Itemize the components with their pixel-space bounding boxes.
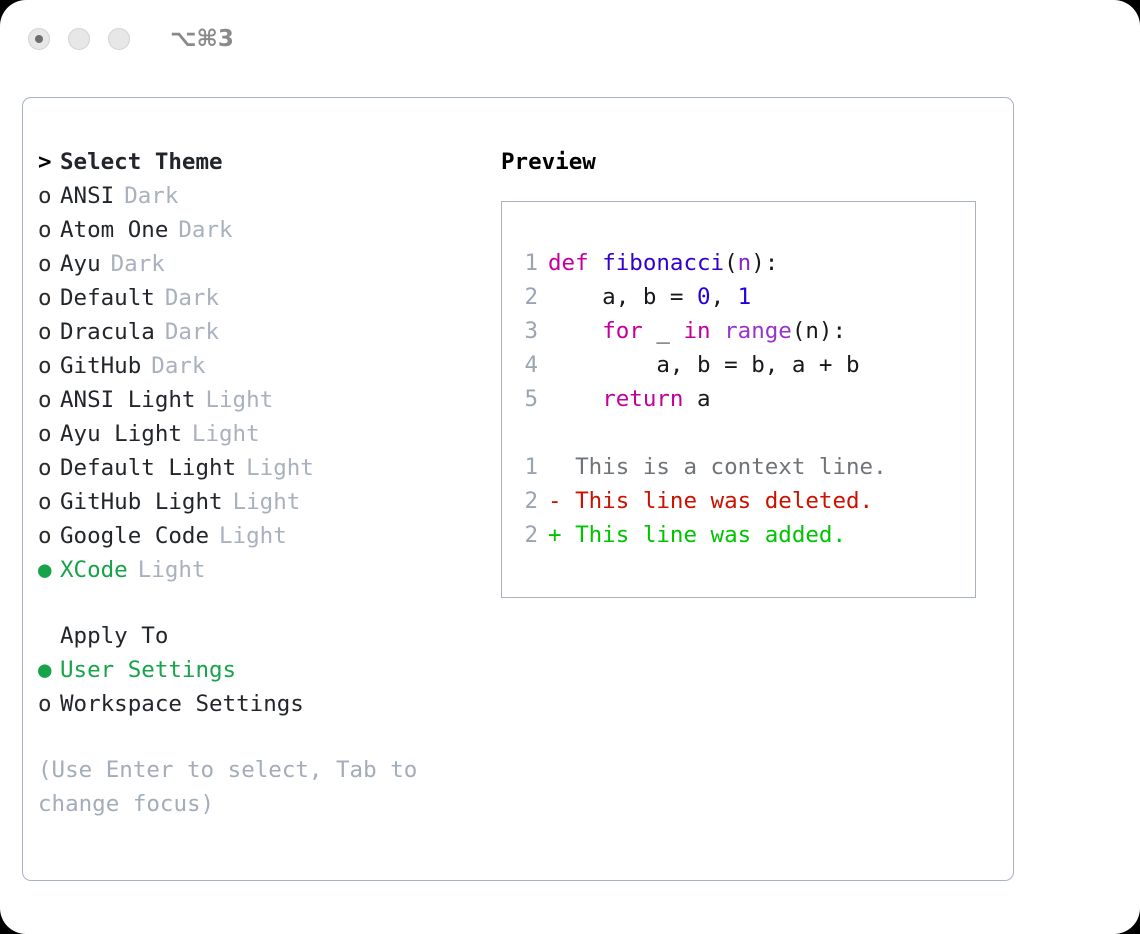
theme-option-github[interactable]: oGitHubDark [38, 349, 488, 383]
theme-option-ansi-light[interactable]: oANSI LightLight [38, 383, 488, 417]
theme-option-label: GitHub Light [60, 489, 223, 515]
apply-to-option-label: Workspace Settings [60, 691, 304, 717]
preview-box: 1def fibonacci(n):2 a, b = 0, 13 for _ i… [501, 201, 976, 598]
diff-sign-icon: + [548, 522, 562, 548]
theme-option-label: ANSI Light [60, 387, 195, 413]
code-token: ): [751, 250, 778, 276]
theme-variant-tag: Dark [151, 353, 205, 379]
diff-sign-icon: - [548, 488, 562, 514]
theme-option-ayu-light[interactable]: oAyu LightLight [38, 417, 488, 451]
code-line: 2 a, b = 0, 1 [516, 280, 975, 314]
code-line: 1def fibonacci(n): [516, 246, 975, 280]
theme-option-default[interactable]: oDefaultDark [38, 281, 488, 315]
theme-variant-tag: Light [219, 523, 287, 549]
radio-unselected-icon: o [38, 383, 60, 417]
code-line-number: 2 [516, 280, 538, 314]
keyboard-shortcut-label: ⌥⌘3 [170, 26, 234, 52]
code-line: 3 for _ in range(n): [516, 314, 975, 348]
diff-line-del: 2- This line was deleted. [516, 484, 975, 518]
code-token: n [738, 250, 752, 276]
apply-to-header: Apply To [38, 619, 488, 653]
theme-option-label: Dracula [60, 319, 155, 345]
theme-option-xcode[interactable]: ●XCodeLight [38, 553, 488, 587]
theme-variant-tag: Light [205, 387, 273, 413]
code-token: a, b = b, a + b [548, 352, 860, 378]
code-token: _ [656, 318, 683, 344]
theme-option-default-light[interactable]: oDefault LightLight [38, 451, 488, 485]
theme-option-ansi[interactable]: oANSIDark [38, 179, 488, 213]
code-line-number: 4 [516, 348, 538, 382]
window-titlebar: ⌥⌘3 [0, 0, 1140, 78]
theme-option-ayu[interactable]: oAyuDark [38, 247, 488, 281]
theme-variant-tag: Dark [111, 251, 165, 277]
theme-option-label: Google Code [60, 523, 209, 549]
code-token: a, b = [548, 284, 697, 310]
theme-variant-tag: Dark [124, 183, 178, 209]
apply-to-option-workspace-settings[interactable]: oWorkspace Settings [38, 687, 488, 721]
diff-sign-icon [548, 454, 562, 480]
prompt-caret-icon: > [38, 145, 60, 179]
select-theme-header-label: Select Theme [60, 149, 223, 175]
theme-option-list: oANSIDarkoAtom OneDarkoAyuDarkoDefaultDa… [38, 179, 488, 587]
apply-to-option-list: ●User SettingsoWorkspace Settings [38, 653, 488, 721]
theme-option-github-light[interactable]: oGitHub LightLight [38, 485, 488, 519]
diff-line-number: 2 [516, 484, 538, 518]
radio-unselected-icon: o [38, 417, 60, 451]
code-token: , [711, 284, 738, 310]
code-line-number: 3 [516, 314, 538, 348]
code-token: 1 [738, 284, 752, 310]
code-token: in [683, 318, 724, 344]
section-spacer [38, 587, 488, 619]
theme-option-label: ANSI [60, 183, 114, 209]
window-dot-active-inner [35, 35, 43, 43]
preview-column: Preview 1def fibonacci(n):2 a, b = 0, 13… [501, 145, 1001, 598]
code-token [548, 318, 602, 344]
code-token: 0 [697, 284, 711, 310]
radio-unselected-icon: o [38, 213, 60, 247]
code-line-number: 1 [516, 246, 538, 280]
theme-option-label: XCode [60, 557, 128, 583]
radio-selected-icon: ● [38, 653, 60, 687]
diff-line-text: This is a context line. [562, 454, 887, 480]
window-dot-2[interactable] [68, 28, 90, 50]
preview-title: Preview [501, 145, 1001, 179]
code-line: 5 return a [516, 382, 975, 416]
theme-option-atom-one[interactable]: oAtom OneDark [38, 213, 488, 247]
theme-option-dracula[interactable]: oDraculaDark [38, 315, 488, 349]
code-token: def [548, 250, 602, 276]
code-token: range [724, 318, 792, 344]
diff-line-ctx: 1 This is a context line. [516, 450, 975, 484]
code-line-number: 5 [516, 382, 538, 416]
theme-option-label: Atom One [60, 217, 168, 243]
select-theme-header: >Select Theme [38, 145, 488, 179]
theme-variant-tag: Light [233, 489, 301, 515]
diff-line-number: 1 [516, 450, 538, 484]
diff-sample: 1 This is a context line.2- This line wa… [516, 450, 975, 552]
theme-option-google-code[interactable]: oGoogle CodeLight [38, 519, 488, 553]
code-token: a [697, 386, 711, 412]
theme-variant-tag: Light [138, 557, 206, 583]
code-token: (n): [792, 318, 846, 344]
theme-list-column: >Select Theme oANSIDarkoAtom OneDarkoAyu… [38, 145, 488, 821]
radio-unselected-icon: o [38, 485, 60, 519]
theme-option-label: Ayu [60, 251, 101, 277]
theme-selection-panel: >Select Theme oANSIDarkoAtom OneDarkoAyu… [22, 97, 1014, 881]
theme-variant-tag: Dark [165, 285, 219, 311]
code-token: fibonacci [602, 250, 724, 276]
radio-unselected-icon: o [38, 687, 60, 721]
code-token: for [602, 318, 656, 344]
diff-line-text: This line was added. [562, 522, 846, 548]
code-token: return [602, 386, 697, 412]
radio-unselected-icon: o [38, 179, 60, 213]
radio-unselected-icon: o [38, 519, 60, 553]
panel-columns: >Select Theme oANSIDarkoAtom OneDarkoAyu… [23, 98, 1013, 880]
theme-variant-tag: Dark [165, 319, 219, 345]
theme-option-label: Default [60, 285, 155, 311]
theme-option-label: GitHub [60, 353, 141, 379]
diff-line-text: This line was deleted. [562, 488, 874, 514]
radio-selected-icon: ● [38, 553, 60, 587]
theme-variant-tag: Light [192, 421, 260, 447]
code-sample: 1def fibonacci(n):2 a, b = 0, 13 for _ i… [516, 246, 975, 416]
radio-unselected-icon: o [38, 247, 60, 281]
radio-unselected-icon: o [38, 315, 60, 349]
radio-unselected-icon: o [38, 451, 60, 485]
radio-unselected-icon: o [38, 281, 60, 315]
apply-to-option-user-settings[interactable]: ●User Settings [38, 653, 488, 687]
code-line: 4 a, b = b, a + b [516, 348, 975, 382]
theme-option-label: Default Light [60, 455, 236, 481]
keyboard-hint-text: (Use Enter to select, Tab to change focu… [38, 753, 438, 821]
diff-line-add: 2+ This line was added. [516, 518, 975, 552]
code-token [548, 386, 602, 412]
diff-line-number: 2 [516, 518, 538, 552]
app-window: ⌥⌘3 >Select Theme oANSIDarkoAtom OneDark… [0, 0, 1140, 934]
window-dot-3[interactable] [108, 28, 130, 50]
theme-variant-tag: Light [246, 455, 314, 481]
code-diff-separator [516, 416, 975, 450]
radio-unselected-icon: o [38, 349, 60, 383]
window-dot-active[interactable] [28, 28, 50, 50]
theme-variant-tag: Dark [178, 217, 232, 243]
code-token: ( [724, 250, 738, 276]
apply-to-option-label: User Settings [60, 657, 236, 683]
theme-option-label: Ayu Light [60, 421, 182, 447]
